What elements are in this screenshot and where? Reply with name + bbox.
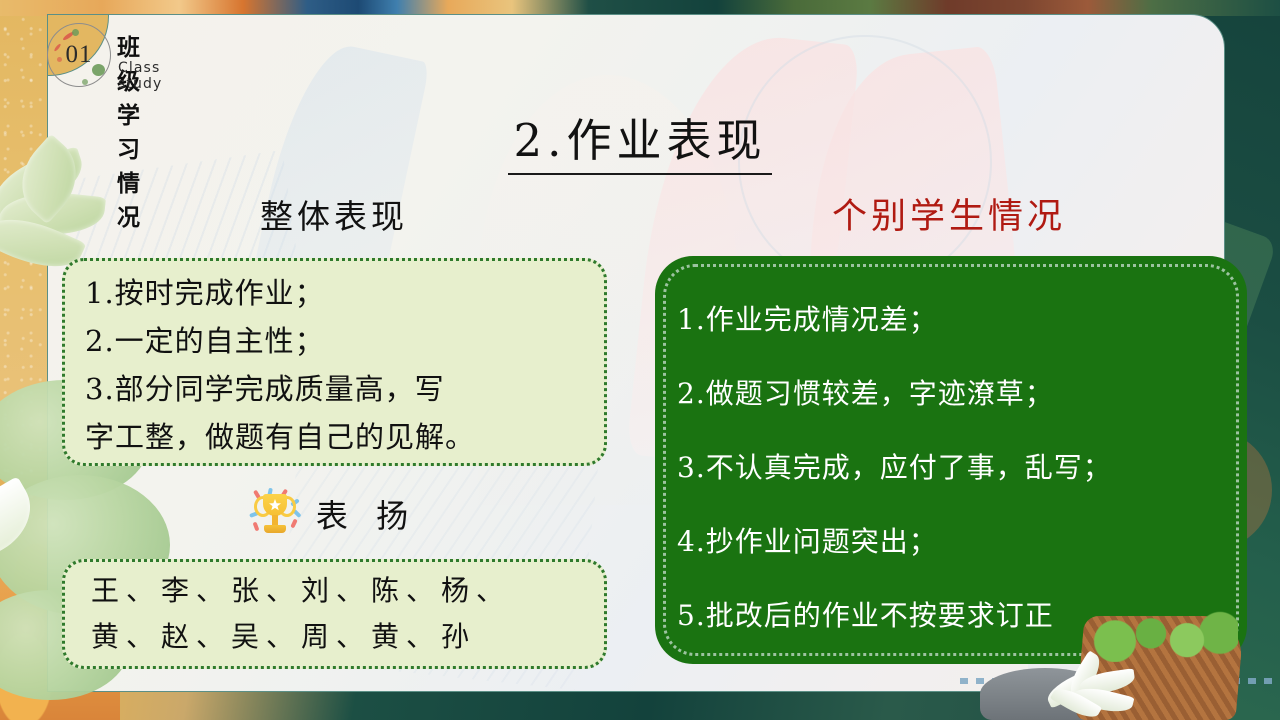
list-item: 2.一定的自主性；: [85, 317, 604, 365]
section-heading-individual: 个别学生情况: [653, 188, 1245, 239]
list-item: 1.按时完成作业；: [85, 269, 604, 317]
overall-performance-lines: 1.按时完成作业； 2.一定的自主性； 3.部分同学完成质量高，写 字工整，做题…: [65, 261, 604, 461]
white-lotus-decoration: [1035, 656, 1155, 718]
section-heading-overall: 整体表现: [60, 190, 608, 238]
list-item: 3.不认真完成，应付了事，乱写；: [677, 431, 1247, 505]
list-item: 黄、赵、吴、周、黄、孙: [91, 614, 604, 660]
page-title: 2.作业表现: [0, 104, 1280, 169]
trophy-icon: [252, 488, 298, 540]
list-item: 王、李、张、刘、陈、杨、: [91, 568, 604, 614]
basket-decoration: [1040, 590, 1270, 720]
list-item: 字工整，做题有自己的见解。: [85, 413, 604, 461]
praise-names-lines: 王、李、张、刘、陈、杨、 黄、赵、吴、周、黄、孙: [65, 562, 604, 660]
header-title-en: Class study: [118, 60, 162, 92]
praise-heading-row: 表 扬: [62, 488, 607, 540]
list-item: 2.做题习惯较差，字迹潦草；: [677, 357, 1247, 431]
praise-heading-label: 表 扬: [316, 491, 417, 537]
basket-leaves: [1088, 610, 1238, 662]
overall-performance-box: 1.按时完成作业； 2.一定的自主性； 3.部分同学完成质量高，写 字工整，做题…: [62, 258, 607, 466]
praise-names-box: 王、李、张、刘、陈、杨、 黄、赵、吴、周、黄、孙: [62, 559, 607, 669]
page-title-text: 2.作业表现: [508, 114, 773, 175]
list-item: 3.部分同学完成质量高，写: [85, 365, 604, 413]
section-number-badge: 01: [47, 23, 111, 87]
list-item: 1.作业完成情况差；: [677, 283, 1247, 357]
list-item: 4.抄作业问题突出；: [677, 505, 1247, 579]
slide-root: 01 班级学习情况 Class study 2.作业表现 整体表现 1.按时完成…: [0, 0, 1280, 720]
